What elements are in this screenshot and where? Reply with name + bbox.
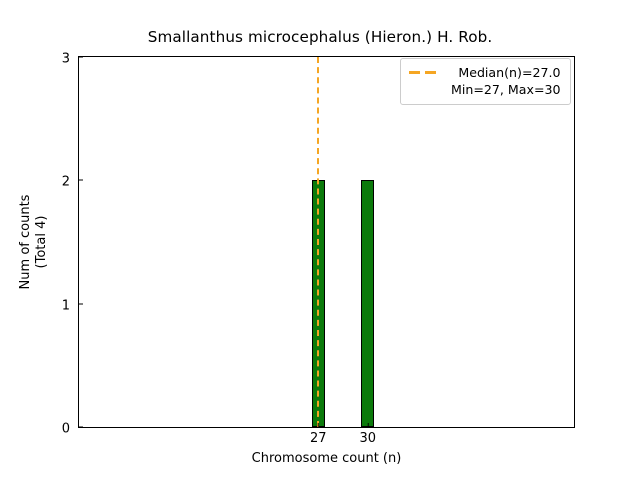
y-tick-mark xyxy=(79,303,83,304)
legend-entry-median: Median(n)=27.0 xyxy=(451,65,561,82)
x-axis-label: Chromosome count (n) xyxy=(78,452,575,466)
y-tick-label: 2 xyxy=(62,176,79,189)
x-tick-label: 30 xyxy=(359,427,376,446)
page-title: Smallanthus microcephalus (Hieron.) H. R… xyxy=(0,28,640,46)
plot-canvas xyxy=(79,57,574,427)
x-tick-mark xyxy=(367,423,368,427)
legend-dash-segment xyxy=(409,71,420,74)
legend-entry-minmax: Min=27, Max=30 xyxy=(451,82,561,99)
x-axis-tick: 27 xyxy=(310,427,327,446)
y-tick-label: 3 xyxy=(62,53,79,66)
legend-text: Median(n)=27.0 Min=27, Max=30 xyxy=(451,65,561,98)
y-axis-tick: 0 xyxy=(62,418,79,437)
x-tick-mark xyxy=(318,423,319,427)
y-axis-tick: 2 xyxy=(62,171,79,190)
y-tick-mark xyxy=(79,180,83,181)
chart-legend: Median(n)=27.0 Min=27, Max=30 xyxy=(400,58,571,105)
median-line xyxy=(317,57,319,427)
y-axis-tick: 3 xyxy=(62,48,79,67)
y-tick-label: 0 xyxy=(62,423,79,436)
y-tick-mark xyxy=(79,427,83,428)
y-tick-mark xyxy=(79,57,83,58)
bar xyxy=(361,180,374,427)
x-tick-label: 27 xyxy=(310,427,327,446)
y-axis-label: Num of counts (Total 4) xyxy=(18,56,58,428)
y-axis-tick: 1 xyxy=(62,294,79,313)
legend-median-line-icon xyxy=(409,65,443,80)
x-axis-tick: 30 xyxy=(359,427,376,446)
plot-area: 01232730 xyxy=(78,56,575,428)
legend-dash-segment xyxy=(425,71,436,74)
chart-figure: Smallanthus microcephalus (Hieron.) H. R… xyxy=(0,0,640,480)
y-tick-label: 1 xyxy=(62,299,79,312)
